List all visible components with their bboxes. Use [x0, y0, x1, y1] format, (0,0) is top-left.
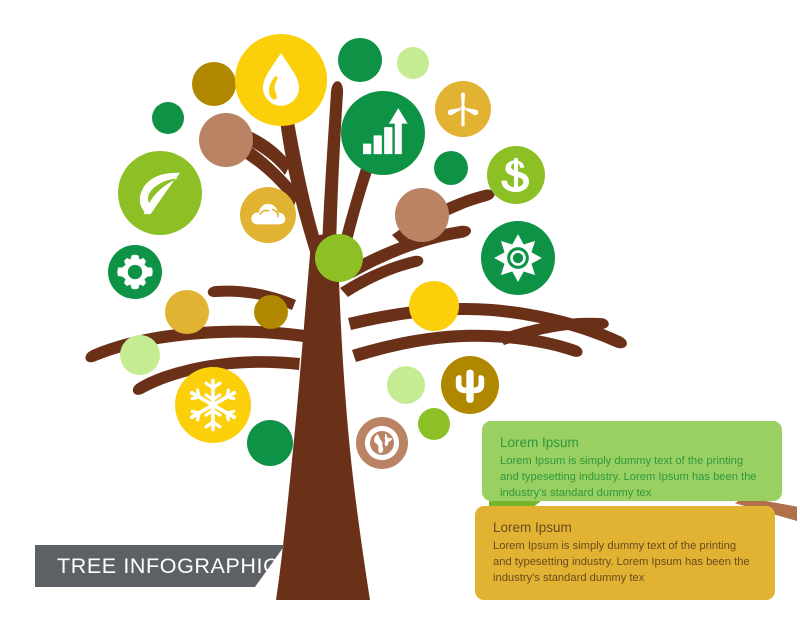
icon-circle-cloud[interactable] [240, 187, 296, 243]
sun-icon [494, 234, 542, 282]
callout-gold-heading: Lorem Ipsum [493, 520, 757, 537]
icon-circle-wind-turbine[interactable] [435, 81, 491, 137]
icon-circle-snowflake[interactable] [175, 367, 251, 443]
callout-box-green[interactable]: Lorem Ipsum Lorem Ipsum is simply dummy … [482, 421, 782, 501]
icon-circle-bar-chart-growth[interactable] [341, 91, 425, 175]
icon-circle-water-drop[interactable] [235, 34, 327, 126]
title-banner: TREE INFOGRAPHIC [35, 545, 285, 587]
title-banner-label: TREE INFOGRAPHIC [35, 554, 279, 579]
circle-green-mid-1 [315, 234, 363, 282]
callout-green-text: Lorem Ipsum is simply dummy text of the … [500, 454, 764, 502]
icon-circle-cactus[interactable] [441, 356, 499, 414]
circle-green-dark-2 [247, 420, 293, 466]
callout-green-heading: Lorem Ipsum [500, 435, 764, 452]
callout-box-gold[interactable]: Lorem Ipsum Lorem Ipsum is simply dummy … [475, 506, 775, 600]
callout-gold-body: Lorem Ipsum Lorem Ipsum is simply dummy … [475, 506, 775, 600]
circle-green-top [338, 38, 382, 82]
circle-gold-mid [165, 290, 209, 334]
icon-circle-dollar-sign[interactable] [487, 146, 545, 204]
circle-green-small-2 [434, 151, 468, 185]
infographic-canvas: Lorem Ipsum Lorem Ipsum is simply dummy … [0, 0, 800, 623]
circle-green-mid-2 [418, 408, 450, 440]
circle-lightgreen-2 [387, 366, 425, 404]
icon-circle-bg [341, 91, 425, 175]
icon-circle-sun[interactable] [481, 221, 555, 295]
callout-green-body: Lorem Ipsum Lorem Ipsum is simply dummy … [482, 421, 782, 501]
circle-green-small-1 [152, 102, 184, 134]
icon-circle-gear[interactable] [108, 245, 162, 299]
circle-gold-dark-top [192, 62, 236, 106]
circle-lightgreen-top [397, 47, 429, 79]
circle-gold-dark-2 [254, 295, 288, 329]
circle-tan-2 [395, 188, 449, 242]
callout-gold-text: Lorem Ipsum is simply dummy text of the … [493, 539, 757, 587]
circle-yellow-mid [409, 281, 459, 331]
circle-tan-1 [199, 113, 253, 167]
icon-circle-leaf[interactable] [118, 151, 202, 235]
circle-lightgreen-1 [120, 335, 160, 375]
icon-circle-globe[interactable] [356, 417, 408, 469]
